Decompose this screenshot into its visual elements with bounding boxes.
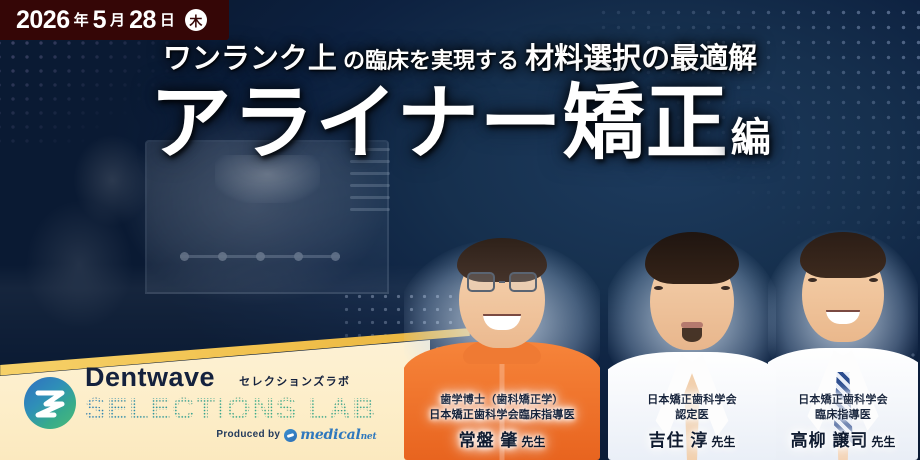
speaker-mouth-2 xyxy=(681,322,703,328)
speaker-caption-1: 歯学博士（歯科矯正学） 日本矯正歯科学会臨床指導医 常盤 肇先生 xyxy=(404,393,600,451)
publisher-name: medical xyxy=(300,427,360,443)
speaker-role-3: 日本矯正歯科学会 臨床指導医 xyxy=(768,393,918,423)
brand-logo-lockup[interactable]: Dentwave セレクションズラボ SELECTIONS LAB Produc… xyxy=(24,364,376,442)
date-year-unit: 年 xyxy=(73,13,90,28)
date-day-unit: 日 xyxy=(159,13,176,28)
speaker-goatee-2 xyxy=(682,328,702,342)
speaker-name-1: 常盤 肇先生 xyxy=(404,426,600,451)
speaker-caption-2: 日本矯正歯科学会 認定医 吉住 淳先生 xyxy=(608,393,776,451)
speaker-caption-3: 日本矯正歯科学会 臨床指導医 高柳 譲司先生 xyxy=(768,393,918,451)
seminar-banner: 2026 年 5 月 28 日 木 ワンランク上 の臨床を実現する 材料選択の最… xyxy=(0,0,920,460)
speaker-honorific-2: 先生 xyxy=(711,435,735,449)
medicalnet-icon xyxy=(284,429,297,442)
speaker-card-1: 歯学博士（歯科矯正学） 日本矯正歯科学会臨床指導医 常盤 肇先生 xyxy=(404,220,600,460)
dentwave-logo-icon xyxy=(24,377,76,429)
speaker-honorific-3: 先生 xyxy=(871,435,895,449)
subtitle-mid: の臨床を実現する xyxy=(337,48,525,73)
product-name: SELECTIONS LAB xyxy=(85,393,376,424)
date-weekday-badge: 木 xyxy=(185,9,207,31)
speaker-role-line1-2: 日本矯正歯科学会 xyxy=(608,393,776,408)
speaker-role-1: 歯学博士（歯科矯正学） 日本矯正歯科学会臨床指導医 xyxy=(404,393,600,423)
background-timeline xyxy=(180,255,340,258)
speaker-card-2: 日本矯正歯科学会 認定医 吉住 淳先生 xyxy=(608,215,776,460)
medicalnet-logo[interactable]: medicalnet xyxy=(284,428,376,442)
headline-block: ワンランク上 の臨床を実現する 材料選択の最適解 アライナー矯正編 xyxy=(0,44,920,164)
subtitle-lead: ワンランク上 xyxy=(163,43,337,75)
subtitle-tail: 材料選択の最適解 xyxy=(525,43,757,75)
speaker-glasses-1 xyxy=(467,272,537,292)
main-title: アライナー矯正編 xyxy=(0,82,920,164)
subtitle-line: ワンランク上 の臨床を実現する 材料選択の最適解 xyxy=(0,44,920,76)
produced-by-row: Produced by medicalnet xyxy=(85,428,376,442)
speaker-name-text-1: 常盤 肇 xyxy=(459,431,519,450)
publisher-suffix: net xyxy=(361,432,377,442)
speaker-role-line2-1: 日本矯正歯科学会臨床指導医 xyxy=(404,408,600,423)
brand-name: Dentwave xyxy=(85,364,215,391)
speaker-name-3: 高柳 譲司先生 xyxy=(768,426,918,451)
brand-tagline-jp: セレクションズラボ xyxy=(239,377,350,388)
main-title-text: アライナー矯正 xyxy=(149,75,728,171)
speaker-name-text-3: 高柳 譲司 xyxy=(791,431,869,450)
speaker-name-2: 吉住 淳先生 xyxy=(608,426,776,451)
date-month-unit: 月 xyxy=(109,13,126,28)
date-badge: 2026 年 5 月 28 日 木 xyxy=(0,0,229,40)
produced-by-label: Produced by xyxy=(216,430,280,440)
date-day: 28 xyxy=(129,8,156,33)
speaker-name-text-2: 吉住 淳 xyxy=(649,431,709,450)
brand-top-row: Dentwave セレクションズラボ xyxy=(85,364,376,391)
main-title-suffix: 編 xyxy=(731,114,771,161)
speaker-card-3: 日本矯正歯科学会 臨床指導医 高柳 譲司先生 xyxy=(768,210,918,460)
medicalnet-wordmark: medicalnet xyxy=(300,428,376,442)
speaker-role-line2-3: 臨床指導医 xyxy=(768,408,918,423)
brand-text-block: Dentwave セレクションズラボ SELECTIONS LAB Produc… xyxy=(85,364,376,442)
speaker-role-line1-1: 歯学博士（歯科矯正学） xyxy=(404,393,600,408)
speaker-honorific-1: 先生 xyxy=(521,435,545,449)
speaker-role-2: 日本矯正歯科学会 認定医 xyxy=(608,393,776,423)
speaker-role-line2-2: 認定医 xyxy=(608,408,776,423)
date-month: 5 xyxy=(93,8,106,33)
speaker-role-line1-3: 日本矯正歯科学会 xyxy=(768,393,918,408)
date-year: 2026 xyxy=(16,8,70,33)
